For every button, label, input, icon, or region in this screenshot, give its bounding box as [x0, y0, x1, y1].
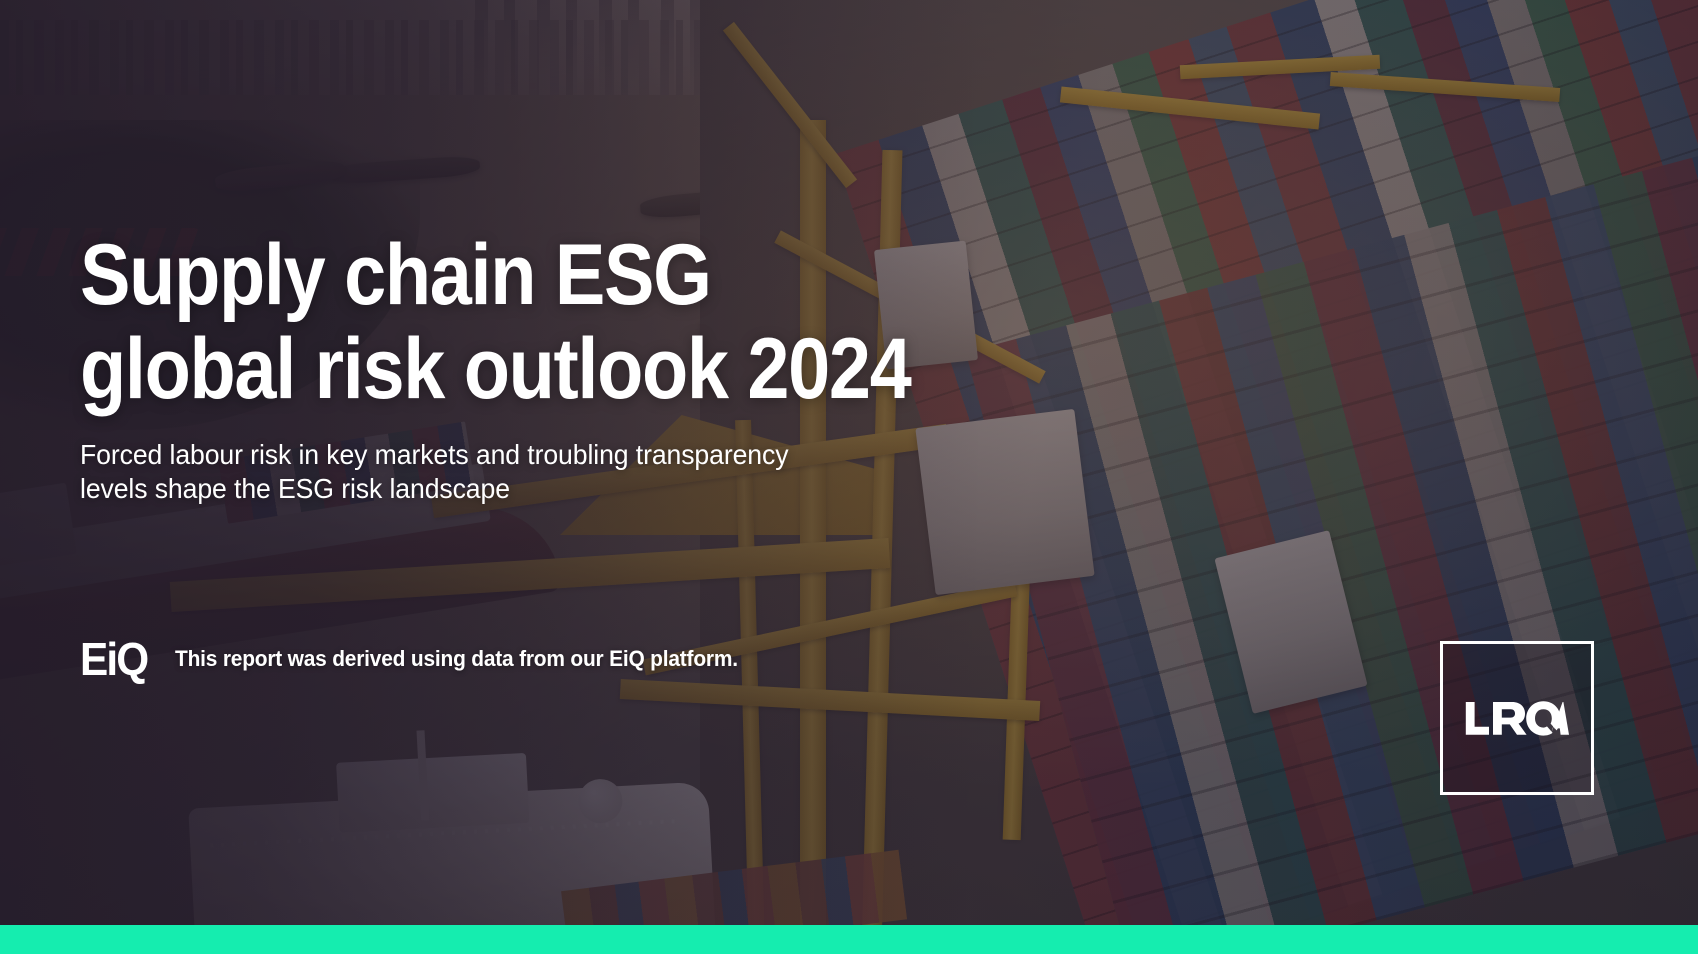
eiq-logo: EiQ — [80, 636, 147, 682]
cover-content: Supply chain ESG global risk outlook 202… — [0, 0, 1698, 954]
lrqa-logo-box — [1440, 641, 1594, 795]
eiq-attribution-note: This report was derived using data from … — [175, 646, 738, 672]
report-cover: Supply chain ESG global risk outlook 202… — [0, 0, 1698, 954]
lrqa-logo-mark — [1465, 698, 1569, 738]
page-subtitle: Forced labour risk in key markets and tr… — [80, 438, 788, 506]
page-title: Supply chain ESG global risk outlook 202… — [80, 228, 910, 416]
eiq-attribution: EiQ This report was derived using data f… — [80, 636, 768, 682]
accent-bar — [0, 925, 1698, 954]
